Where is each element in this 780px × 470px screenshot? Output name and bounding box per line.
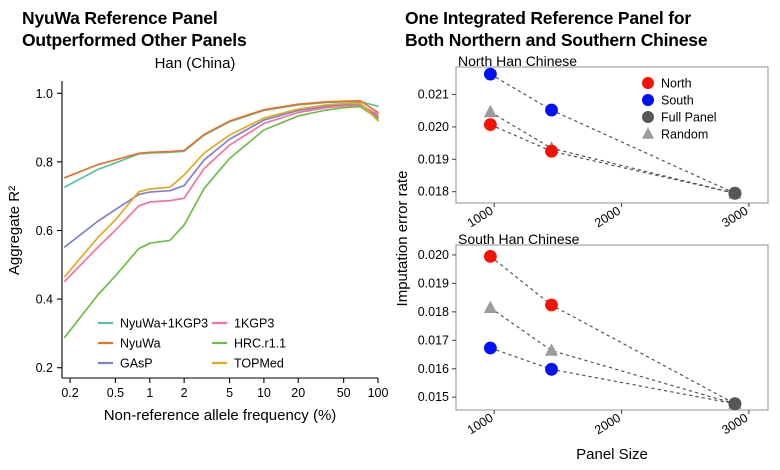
left-x-tick-label: 100 [368, 386, 389, 400]
right-y-tick-label: 0.018 [418, 185, 449, 199]
connector-random [490, 308, 735, 404]
left-legend-item: 1KGP3 [212, 317, 274, 331]
data-point-south [484, 342, 497, 355]
data-point-south [484, 68, 497, 81]
left-x-tick-label: 0.2 [61, 386, 78, 400]
data-point-north [545, 145, 558, 158]
series-line-1kgp3 [65, 105, 378, 281]
left-y-tick-label: 0.6 [36, 224, 53, 238]
aggregate-r2-line-chart: 0.20.40.60.81.00.20.5125102050100Non-ref… [0, 75, 390, 470]
right-y-tick-label: 0.016 [418, 362, 449, 376]
left-x-tick-label: 10 [257, 386, 271, 400]
series-line-nyuwa-1kgp3 [65, 102, 378, 187]
right-x-tick-label: 2000 [592, 204, 623, 231]
right-x-tick-label: 1000 [465, 204, 496, 231]
legend-label: NyuWa+1KGP3 [120, 317, 208, 331]
left-title-line-2: Outperformed Other Panels [22, 30, 382, 52]
legend-label: Random [661, 128, 708, 142]
data-point-south [545, 104, 558, 117]
right-title-line-2: Both Northern and Southern Chinese [405, 30, 780, 52]
right-y-tick-label: 0.020 [418, 248, 449, 262]
right-y-tick-label: 0.021 [418, 88, 449, 102]
right-title-line-1: One Integrated Reference Panel for [405, 8, 780, 30]
legend-marker-full-panel [642, 111, 654, 123]
left-x-axis-label: Non-reference allele frequency (%) [104, 407, 337, 424]
right-legend-item: Full Panel [642, 111, 717, 125]
imputation-error-scatter-chart: North Han Chinese0.0180.0190.0200.021100… [390, 55, 780, 470]
figure-root: NyuWa Reference Panel Outperformed Other… [0, 0, 780, 470]
legend-label: South [661, 94, 694, 108]
left-legend-item: GAsP [98, 357, 153, 371]
right-x-tick-label: 2000 [592, 411, 623, 438]
right-y-axis-label: Imputation error rate [394, 171, 411, 307]
left-x-tick-label: 50 [337, 386, 351, 400]
left-x-tick-label: 1 [146, 386, 153, 400]
right-legend-item: South [642, 94, 694, 108]
right-legend-item: North [642, 77, 692, 91]
right-y-tick-label: 0.019 [418, 276, 449, 290]
data-point-random [484, 301, 497, 313]
left-x-tick-label: 20 [291, 386, 305, 400]
right-x-tick-label: 1000 [465, 411, 496, 438]
right-y-tick-label: 0.020 [418, 120, 449, 134]
series-line-nyuwa [65, 101, 378, 178]
right-y-tick-label: 0.019 [418, 152, 449, 166]
left-x-tick-label: 5 [226, 386, 233, 400]
right-y-tick-label: 0.018 [418, 305, 449, 319]
right-y-tick-label: 0.015 [418, 390, 449, 404]
left-legend-item: HRC.r1.1 [212, 337, 286, 351]
left-x-tick-label: 2 [181, 386, 188, 400]
data-point-random [545, 343, 558, 355]
left-title-line-1: NyuWa Reference Panel [22, 8, 382, 30]
legend-label: Full Panel [661, 111, 717, 125]
right-panel: One Integrated Reference Panel for Both … [390, 0, 780, 470]
data-point-north [484, 250, 497, 263]
right-x-axis-label: Panel Size [576, 446, 648, 463]
right-x-tick-label: 3000 [719, 411, 750, 438]
left-y-tick-label: 0.2 [36, 361, 53, 375]
data-point-north [545, 299, 558, 312]
left-subtitle: Han (China) [155, 55, 236, 72]
left-y-axis-label: Aggregate R² [6, 186, 23, 275]
series-line-topmed [65, 103, 378, 276]
left-title-block: NyuWa Reference Panel Outperformed Other… [22, 8, 382, 52]
legend-label: North [661, 77, 692, 91]
legend-label: TOPMed [234, 357, 284, 371]
right-x-tick-label: 3000 [719, 204, 750, 231]
left-y-tick-label: 0.4 [36, 293, 53, 307]
left-y-tick-label: 1.0 [36, 87, 53, 101]
data-point-north [484, 118, 497, 131]
left-panel: NyuWa Reference Panel Outperformed Other… [0, 0, 390, 470]
data-point-full-panel [728, 187, 741, 200]
data-point-random [484, 105, 497, 117]
legend-marker-north [642, 77, 654, 89]
connector-north [490, 256, 735, 403]
connector-south [490, 348, 735, 404]
legend-label: HRC.r1.1 [234, 337, 286, 351]
left-legend-item: TOPMed [212, 357, 284, 371]
left-legend-item: NyuWa [98, 337, 161, 351]
legend-marker-south [642, 94, 654, 106]
right-legend-item: Random [642, 127, 708, 141]
data-point-south [545, 363, 558, 376]
left-x-tick-label: 0.5 [107, 386, 124, 400]
left-legend-item: NyuWa+1KGP3 [98, 317, 208, 331]
legend-marker-random [642, 127, 654, 138]
right-y-tick-label: 0.017 [418, 333, 449, 347]
legend-label: 1KGP3 [234, 317, 274, 331]
legend-label: NyuWa [120, 337, 161, 351]
data-point-full-panel [728, 397, 741, 410]
right-title-block: One Integrated Reference Panel for Both … [405, 8, 780, 52]
legend-label: GAsP [120, 357, 153, 371]
left-y-tick-label: 0.8 [36, 155, 53, 169]
